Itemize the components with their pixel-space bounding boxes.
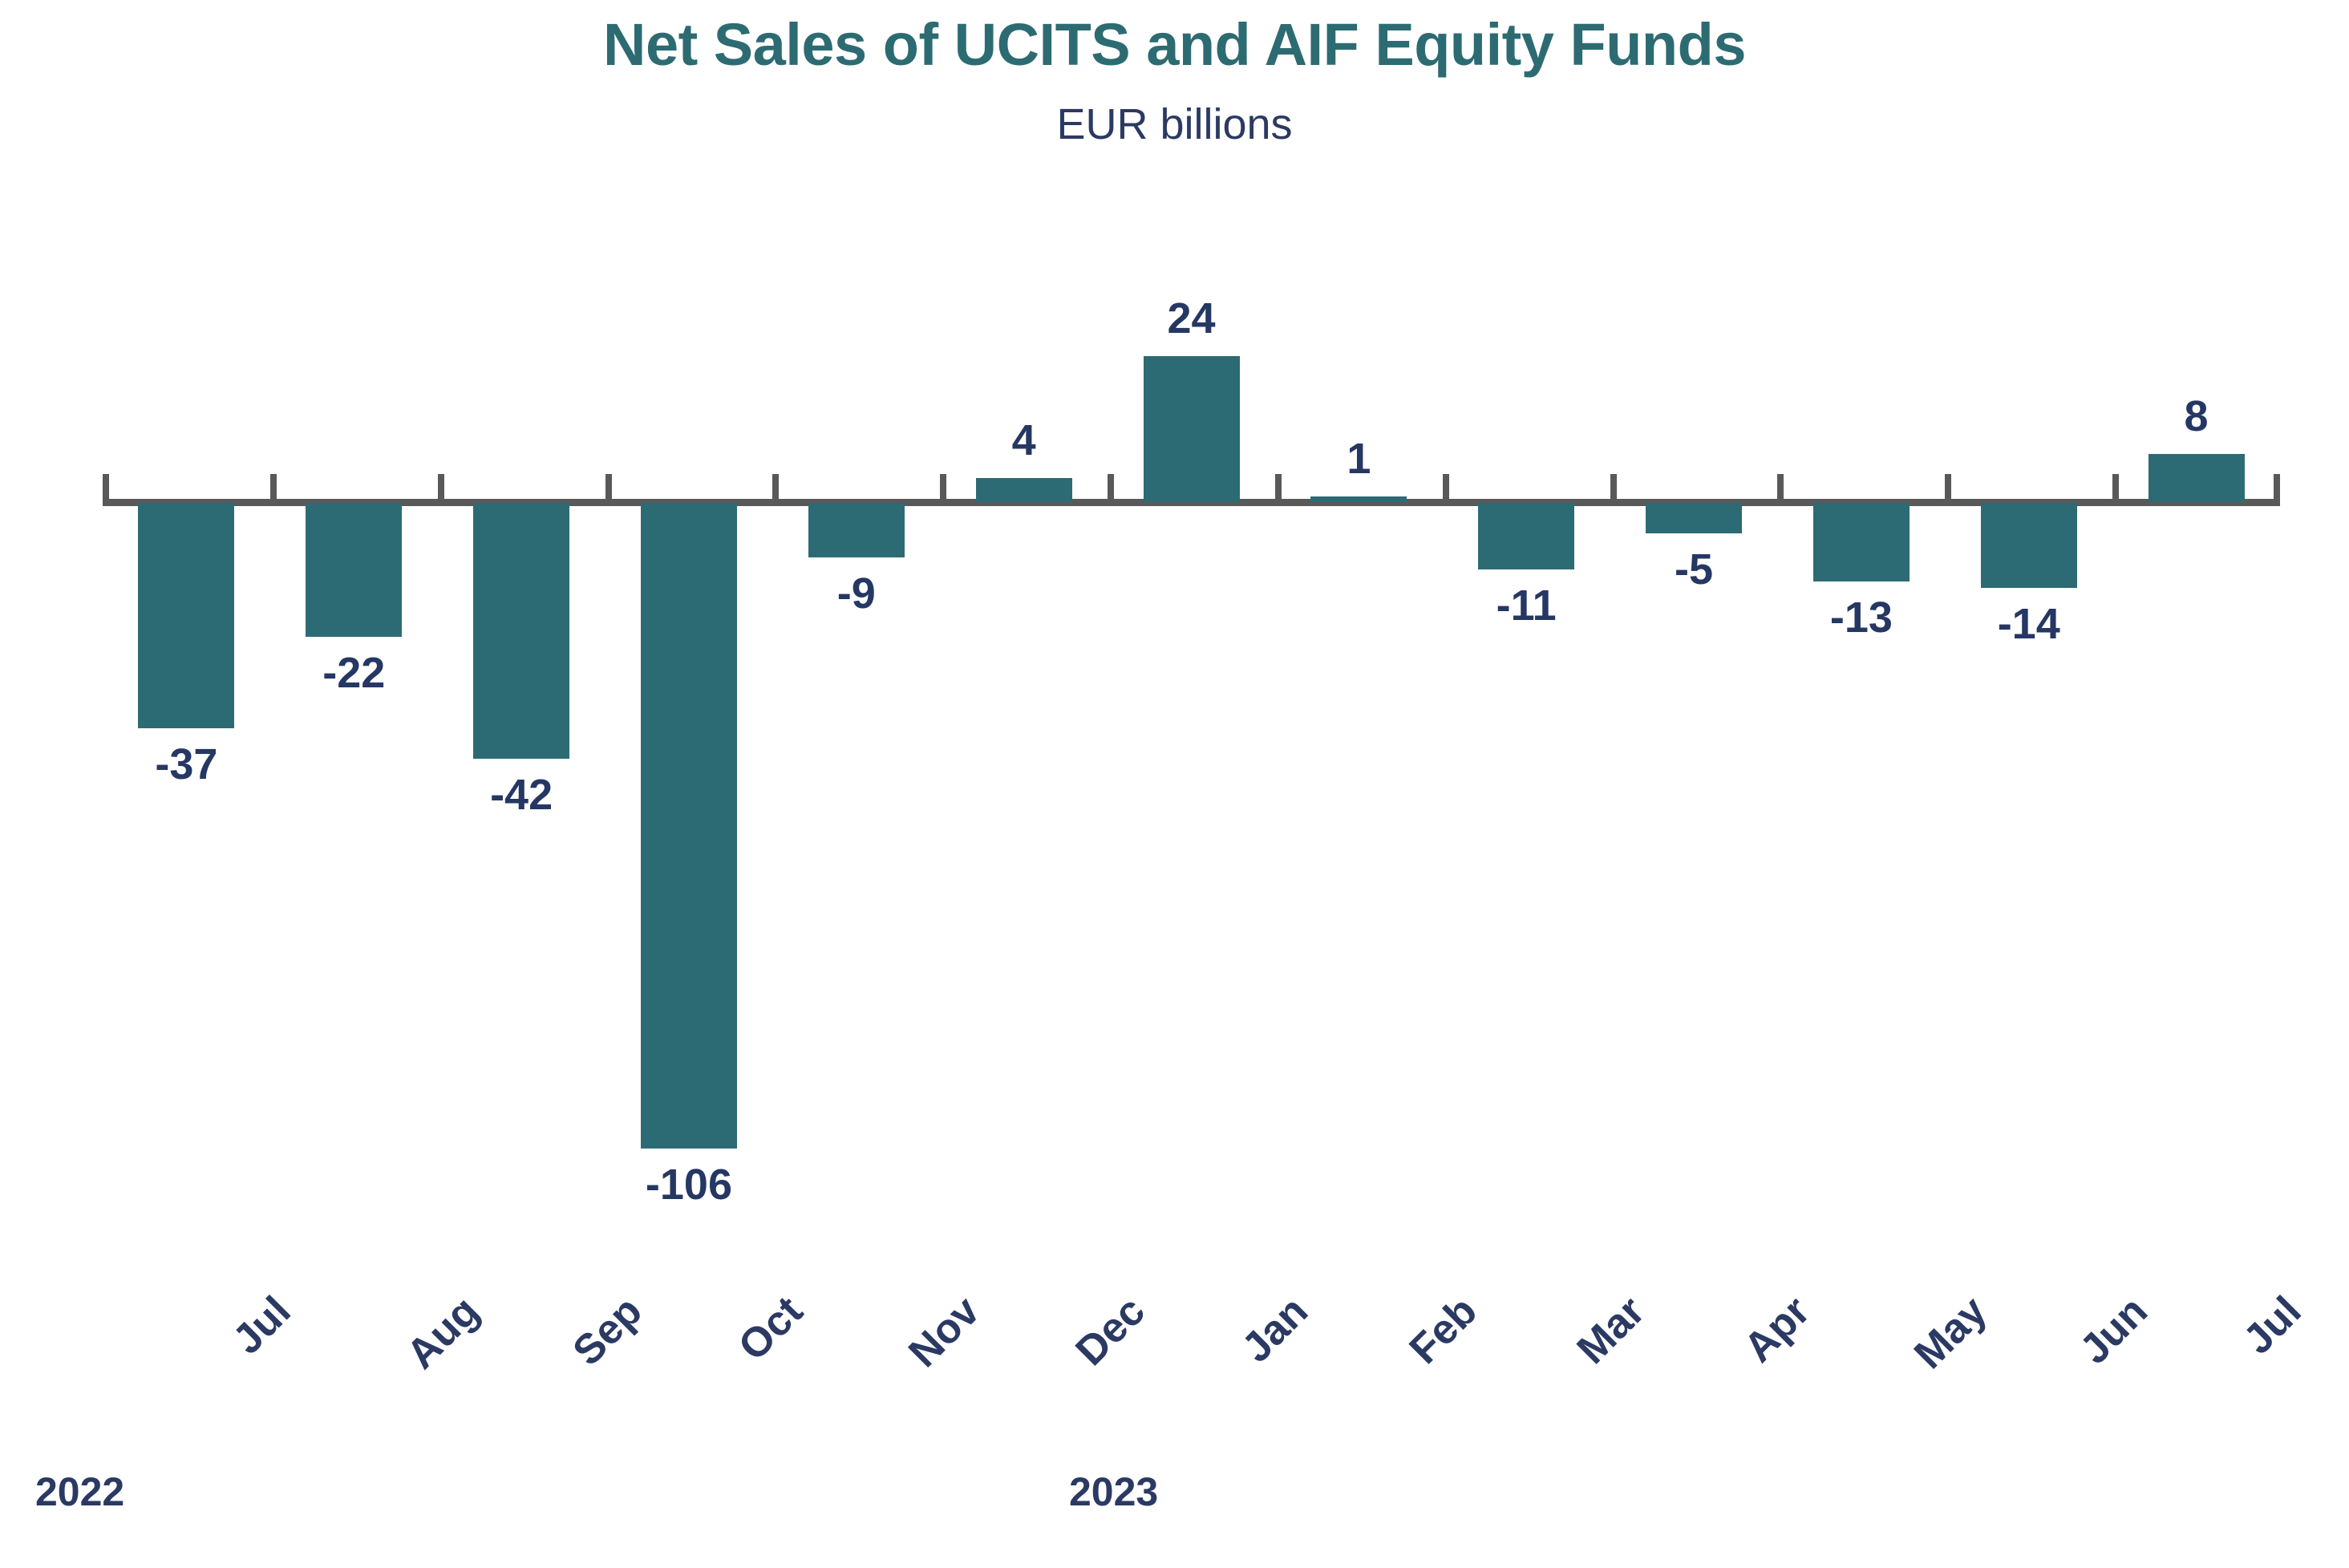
bar[interactable] xyxy=(1478,503,1574,570)
bar-value-label: -11 xyxy=(1443,584,1610,627)
x-axis-tick xyxy=(1777,474,1784,499)
x-axis-category-label: Sep xyxy=(566,1290,650,1373)
bar[interactable] xyxy=(473,503,569,759)
bar-value-label: -42 xyxy=(438,773,605,816)
bar[interactable] xyxy=(1813,503,1910,582)
bar-value-label: 1 xyxy=(1275,437,1443,480)
x-axis-tick xyxy=(1610,474,1617,499)
x-axis-category-label: Apr xyxy=(1737,1290,1817,1370)
x-axis-category-label: Nov xyxy=(901,1290,986,1375)
x-axis-tick xyxy=(1443,474,1449,499)
bar-value-label: 8 xyxy=(2112,395,2280,438)
x-axis-category-label: Oct xyxy=(731,1290,810,1368)
plot-area: -37Jul-22Aug-42Sep-106Oct-9Nov4Dec24Jan1… xyxy=(0,0,2349,1568)
x-axis-category-label: Jun xyxy=(2072,1290,2154,1371)
bar[interactable] xyxy=(1981,503,2077,588)
bar-value-label: -5 xyxy=(1610,548,1778,591)
bar[interactable] xyxy=(1144,356,1240,502)
x-axis-tick xyxy=(103,474,109,499)
x-axis-category-label: Mar xyxy=(1570,1290,1652,1371)
bar[interactable] xyxy=(138,503,234,728)
x-axis-tick xyxy=(605,474,612,499)
x-axis-category-label: May xyxy=(1907,1290,1994,1376)
x-axis-tick xyxy=(2274,474,2280,499)
bar-value-label: -37 xyxy=(103,743,270,786)
bar-value-label: -13 xyxy=(1777,596,1945,639)
bar-value-label: 24 xyxy=(1108,297,1275,340)
bar-value-label: -106 xyxy=(605,1163,773,1206)
x-axis-tick xyxy=(940,474,946,499)
bar[interactable] xyxy=(2149,454,2245,503)
x-axis-category-label: Aug xyxy=(399,1290,486,1376)
bar[interactable] xyxy=(641,503,737,1149)
x-axis-tick xyxy=(1945,474,1951,499)
year-label-2022: 2022 xyxy=(35,1472,124,1512)
x-axis-tick xyxy=(438,474,444,499)
bar[interactable] xyxy=(306,503,402,637)
bar[interactable] xyxy=(1646,503,1742,533)
chart-container: Net Sales of UCITS and AIF Equity Funds … xyxy=(0,0,2349,1568)
bar[interactable] xyxy=(1310,496,1407,503)
x-axis-tick xyxy=(1108,474,1114,499)
x-axis-category-label: Jul xyxy=(2236,1290,2308,1362)
bar-value-label: 4 xyxy=(940,419,1108,462)
bar-value-label: -9 xyxy=(772,572,940,615)
x-axis-category-label: Feb xyxy=(1403,1290,1484,1371)
x-axis-category-label: Jan xyxy=(1234,1290,1314,1370)
bar-value-label: -14 xyxy=(1945,602,2112,646)
x-axis-category-label: Dec xyxy=(1068,1290,1152,1373)
x-axis-tick xyxy=(270,474,277,499)
bar-value-label: -22 xyxy=(270,651,438,695)
x-axis-category-label: Jul xyxy=(226,1290,298,1362)
year-label-2023: 2023 xyxy=(1069,1472,1158,1512)
bar[interactable] xyxy=(976,478,1072,502)
bar[interactable] xyxy=(808,503,905,557)
x-axis-tick xyxy=(2112,474,2119,499)
x-axis-tick xyxy=(772,474,779,499)
